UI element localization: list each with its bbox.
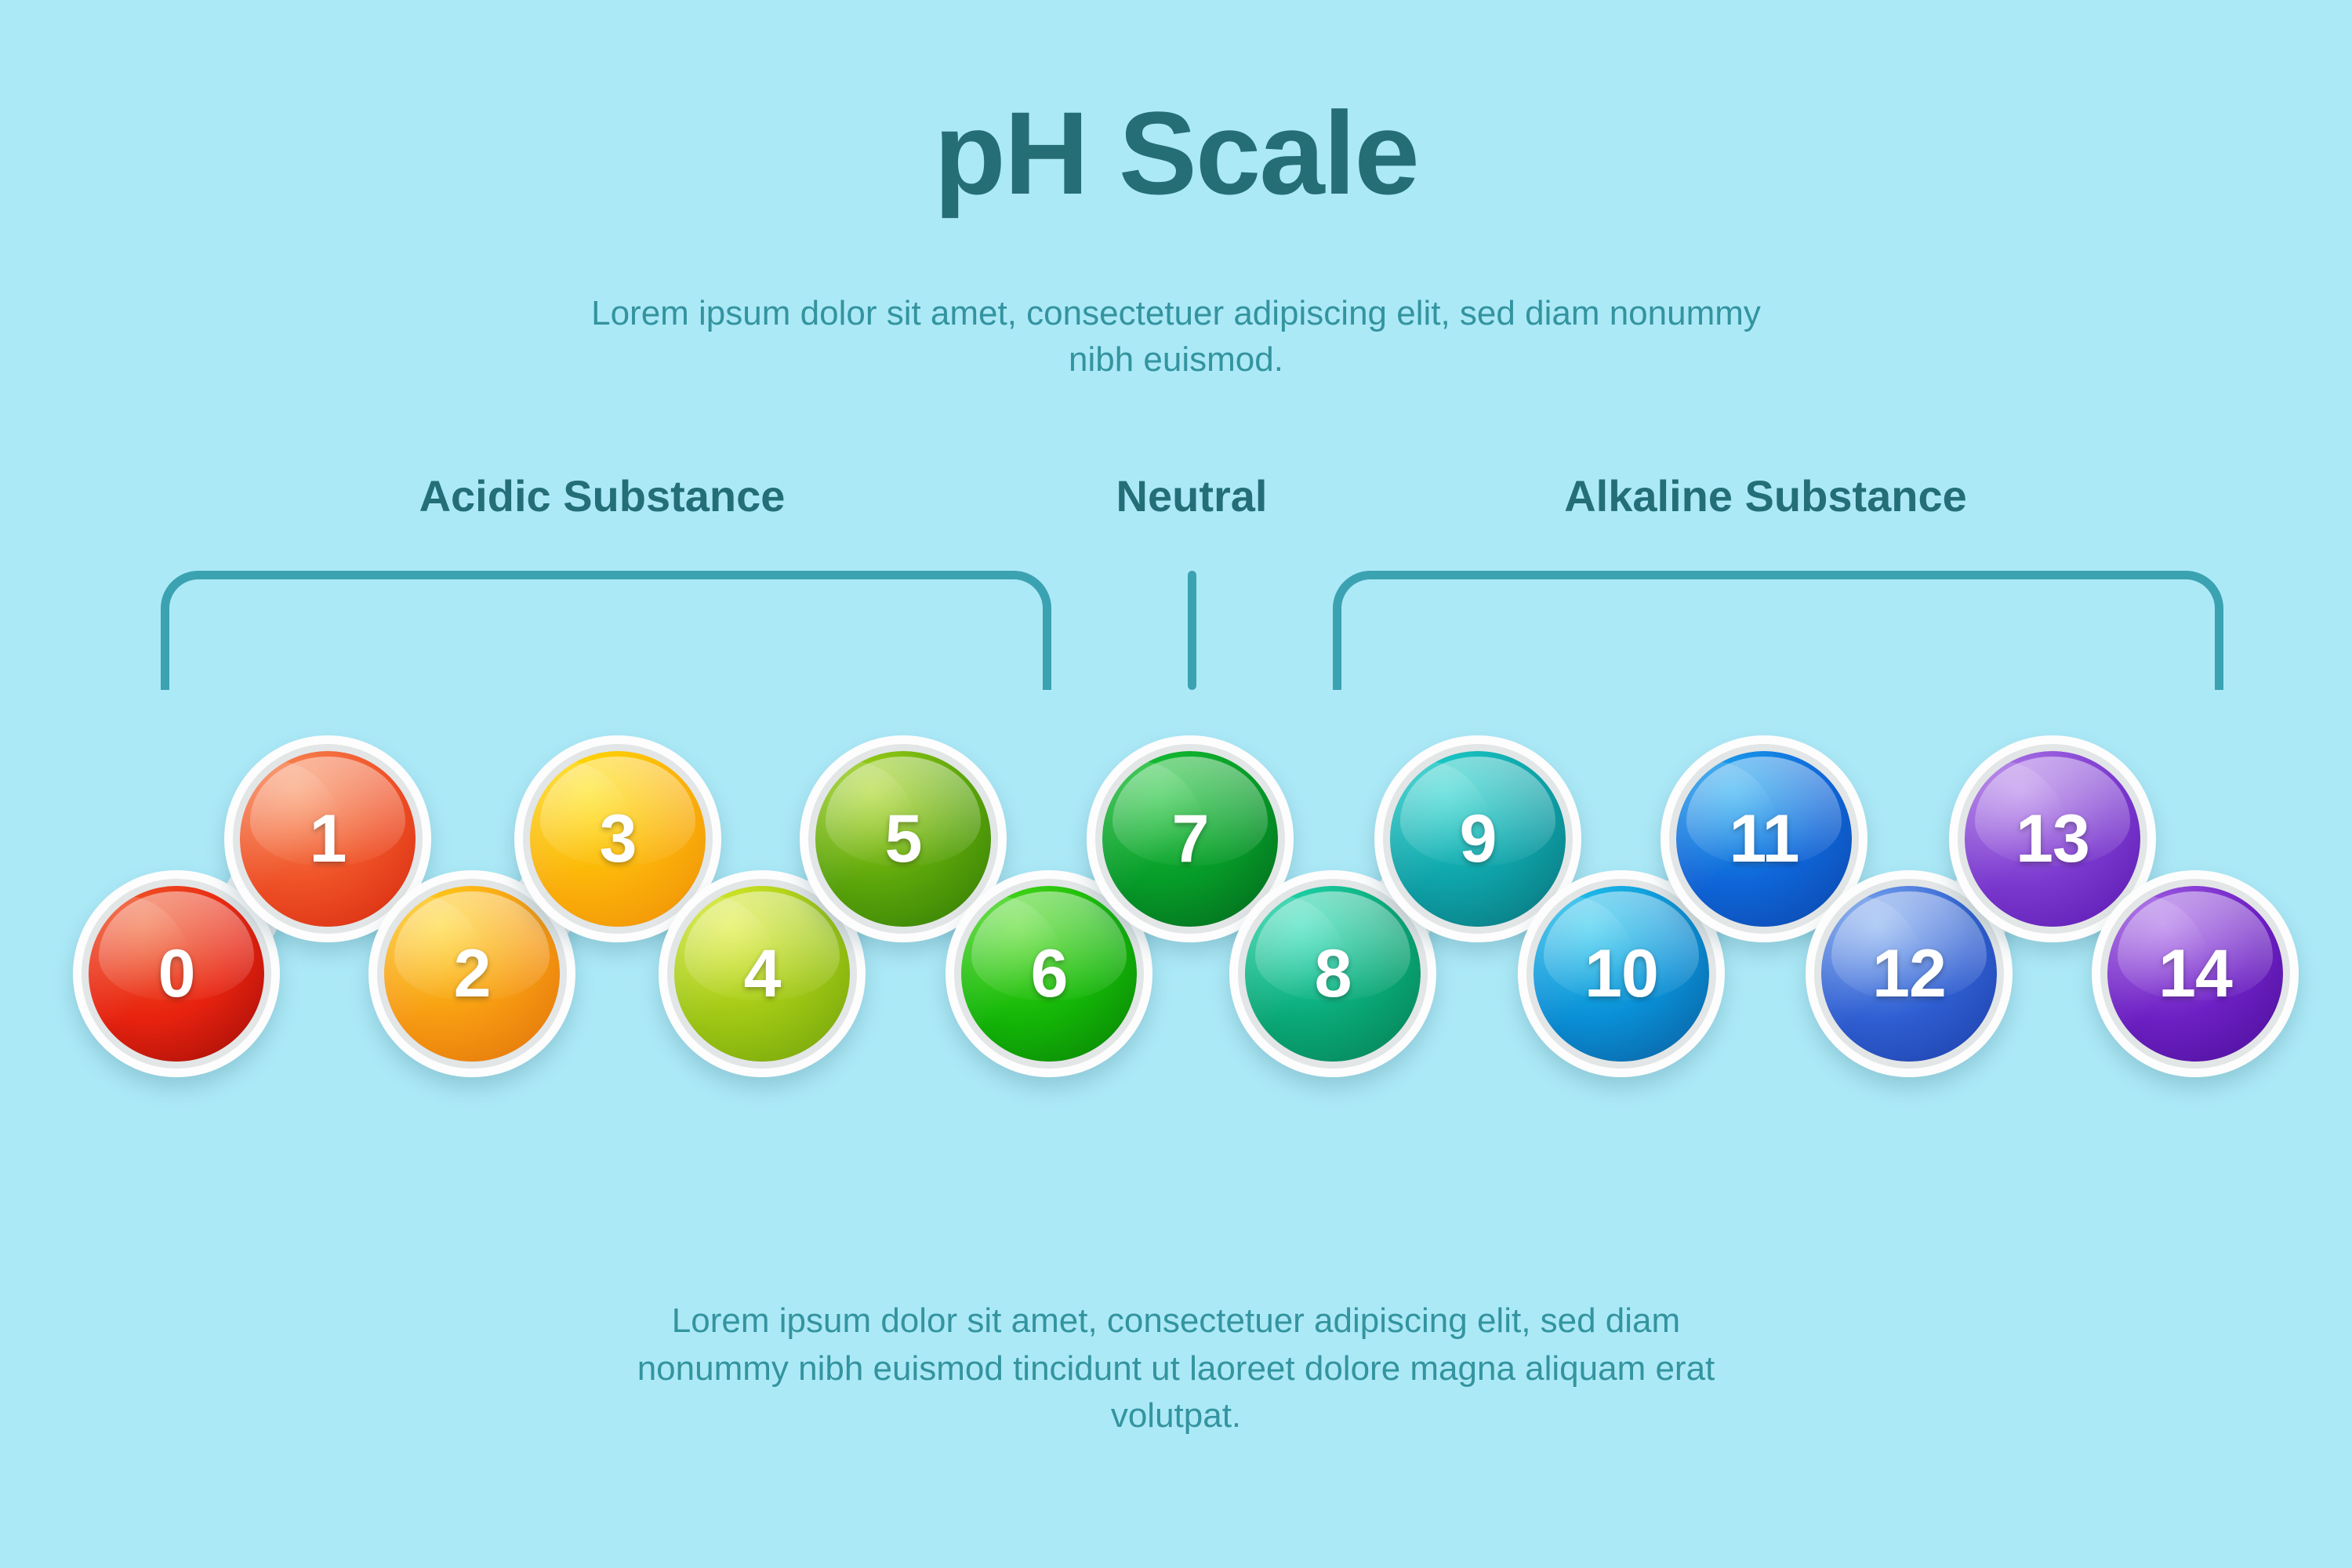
section-label-acidic: Acidic Substance [419, 470, 786, 521]
section-label-alkaline: Alkaline Substance [1564, 470, 1967, 521]
page-title: pH Scale [0, 94, 2352, 212]
ph-scale: 01234567891011121314 [0, 698, 2352, 1247]
footer-text: Lorem ipsum dolor sit amet, consectetuer… [612, 1298, 1740, 1440]
bracket-neutral [1188, 571, 1196, 690]
ph-node-14[interactable]: 14 [2092, 870, 2299, 1077]
bracket-acidic [161, 571, 1051, 690]
page-subtitle: Lorem ipsum dolor sit amet, consectetuer… [564, 290, 1788, 383]
node-value-14: 14 [2092, 870, 2299, 1077]
infographic-canvas: pH Scale Lorem ipsum dolor sit amet, con… [0, 0, 2352, 1568]
section-label-neutral: Neutral [1116, 470, 1268, 521]
bracket-alkaline [1333, 571, 2223, 690]
